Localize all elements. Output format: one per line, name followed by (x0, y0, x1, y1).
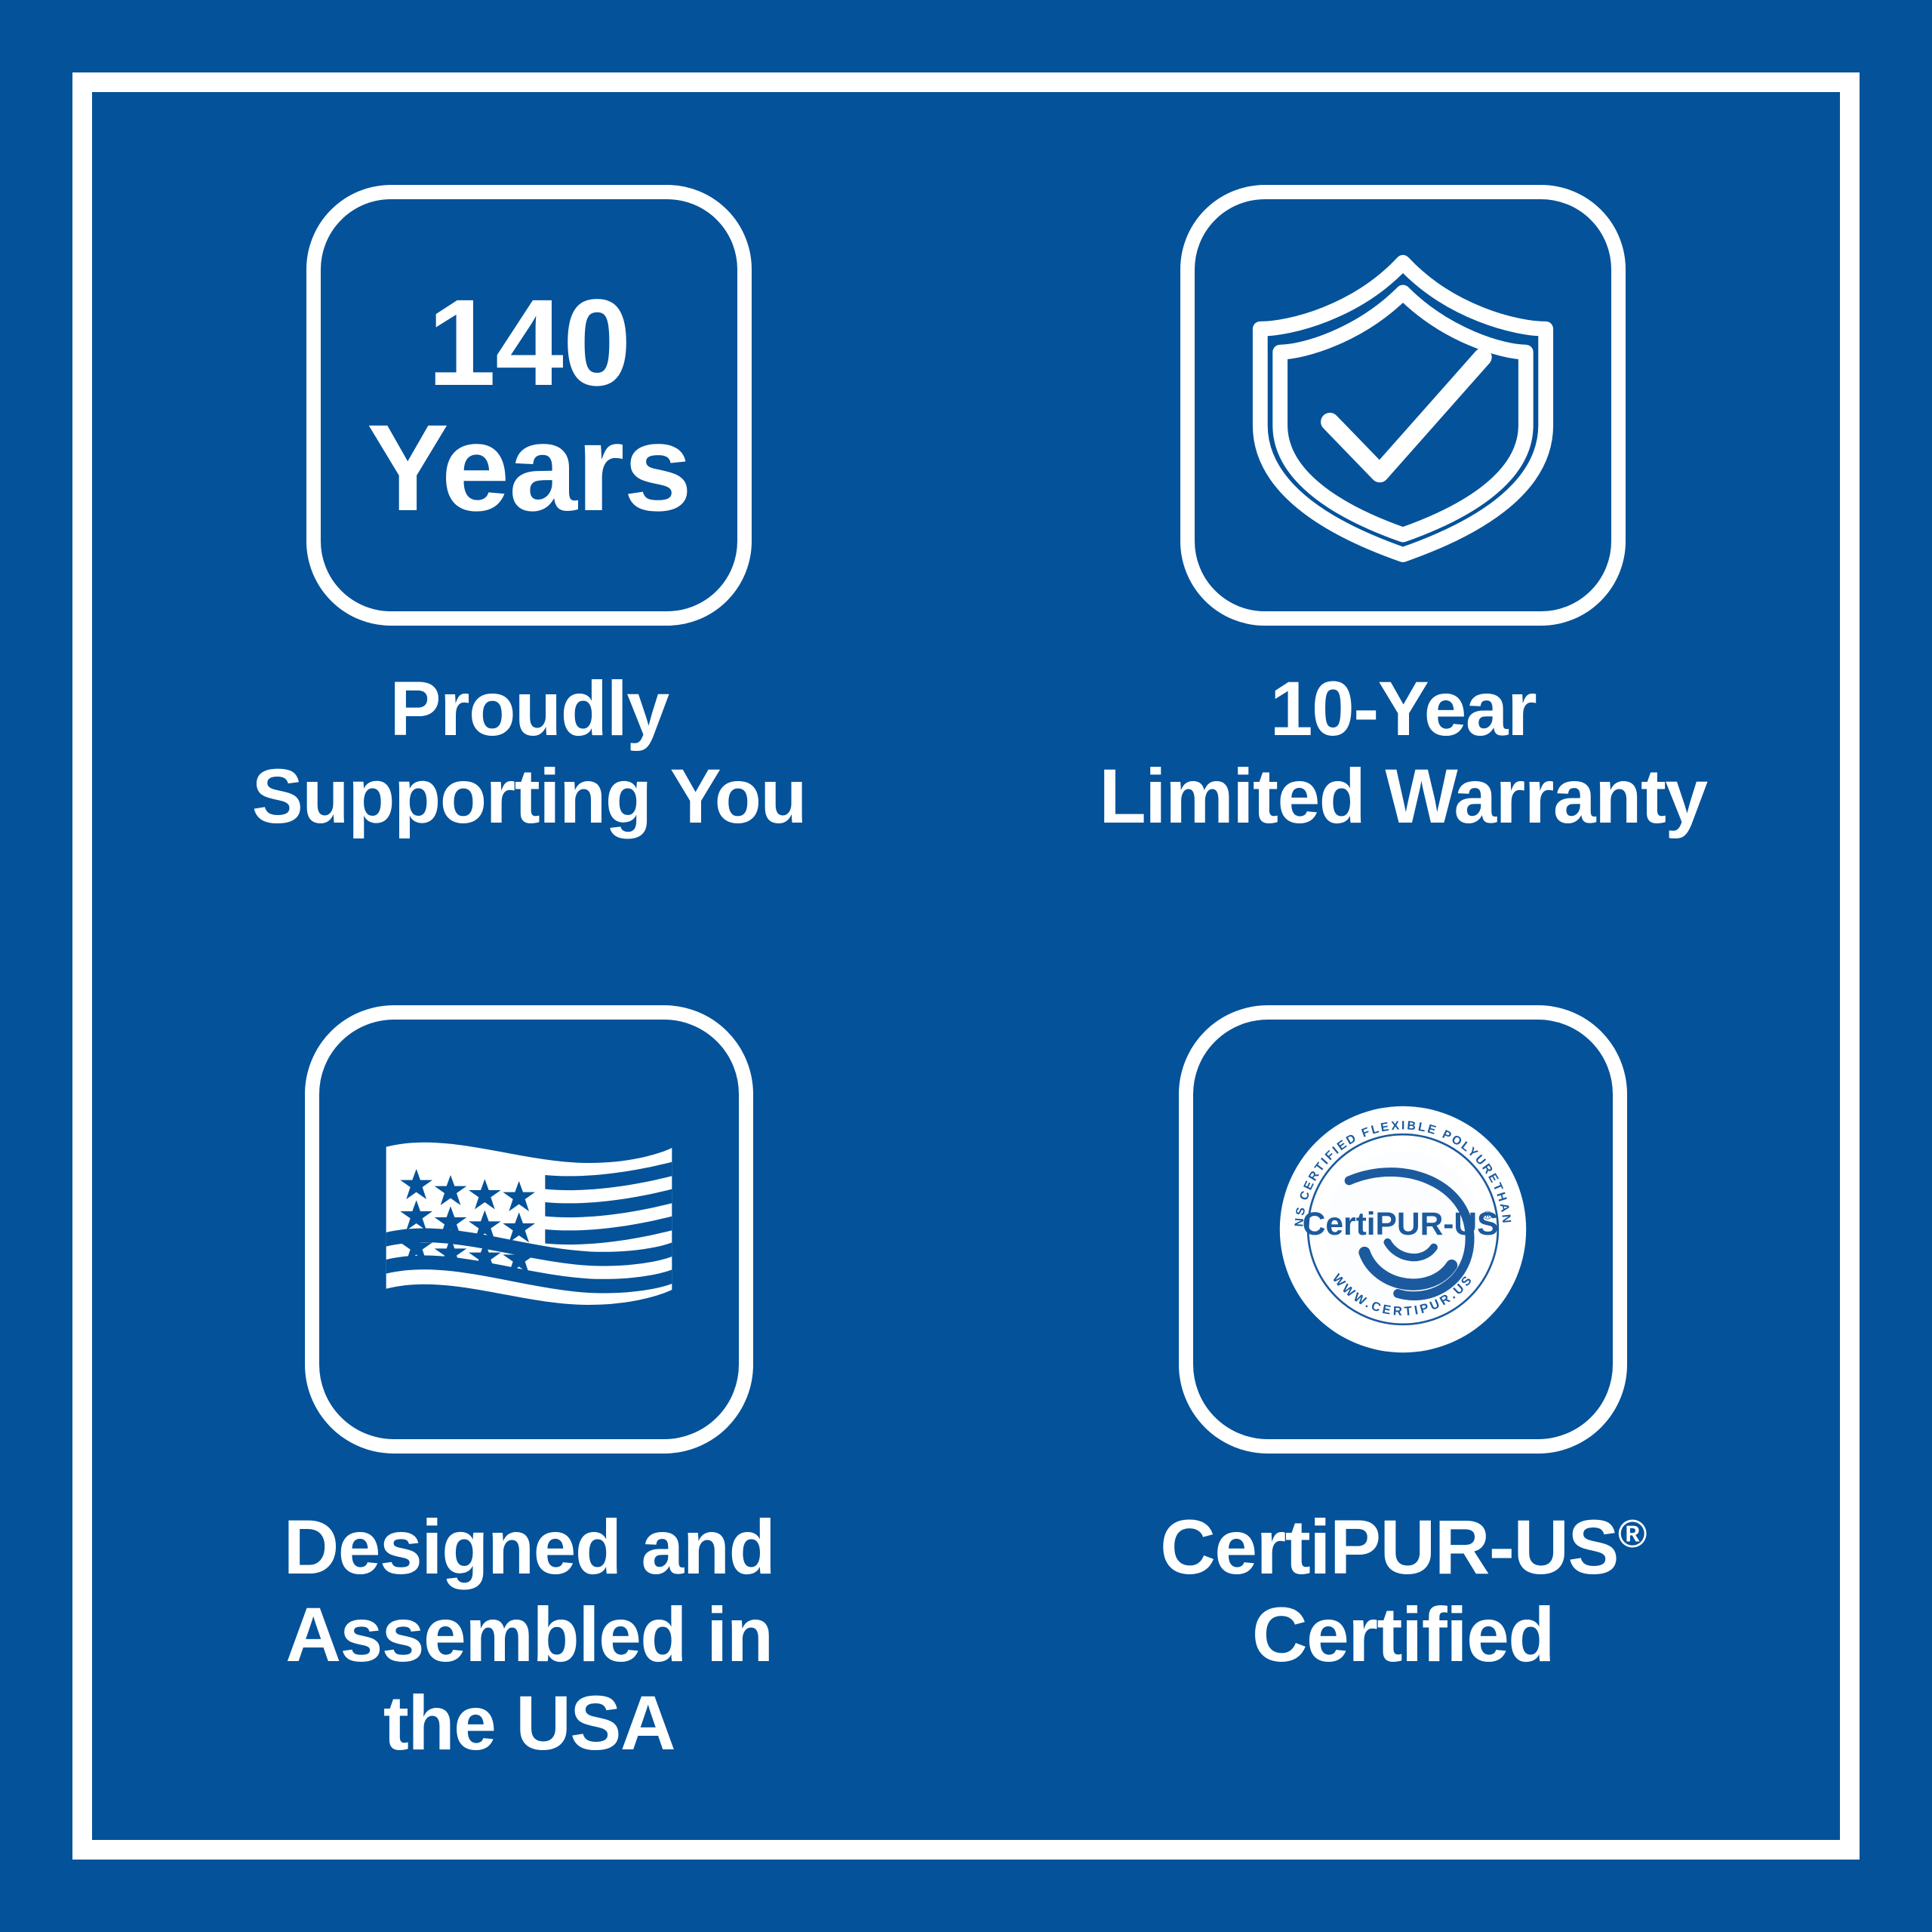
badge-poster: 140 Years Proudly Supporting You (0, 0, 1932, 1932)
years-tile: 140 Years (306, 185, 752, 626)
warranty-tile (1180, 185, 1626, 626)
certipur-wordmark: CertiPUR-US (1303, 1207, 1499, 1242)
certipur-caption-main: CertiPUR-US (1160, 1504, 1618, 1590)
badge-usa: Designed and Assembled in the USA (92, 966, 966, 1840)
badge-warranty-caption: 10-Year Limited Warranty (1099, 665, 1706, 841)
usa-tile (305, 1005, 753, 1454)
badge-certipur: CertiPUR-US ® CONTAINS CERTIFIED FLEXIBL… (966, 966, 1840, 1840)
usa-flag-icon (378, 1128, 680, 1331)
certipur-wordmark-reg: ® (1484, 1209, 1493, 1222)
shield-check-icon (1237, 239, 1569, 571)
badge-years-caption: Proudly Supporting You (252, 665, 806, 841)
badge-grid: 140 Years Proudly Supporting You (92, 92, 1840, 1840)
badge-usa-caption: Designed and Assembled in the USA (284, 1503, 775, 1767)
badge-certipur-caption: CertiPUR-US® Certified (1160, 1503, 1646, 1679)
certipur-us-seal-icon: CertiPUR-US ® CONTAINS CERTIFIED FLEXIBL… (1275, 1101, 1531, 1358)
badge-years: 140 Years Proudly Supporting You (92, 92, 966, 966)
certipur-tile: CertiPUR-US ® CONTAINS CERTIFIED FLEXIBL… (1179, 1005, 1627, 1454)
registered-trademark-icon: ® (1618, 1512, 1646, 1556)
years-number: 140 (367, 280, 691, 405)
certipur-caption-sub: Certified (1252, 1592, 1554, 1678)
years-text-icon: 140 Years (367, 280, 691, 531)
years-word: Years (367, 405, 691, 531)
badge-warranty: 10-Year Limited Warranty (966, 92, 1840, 966)
